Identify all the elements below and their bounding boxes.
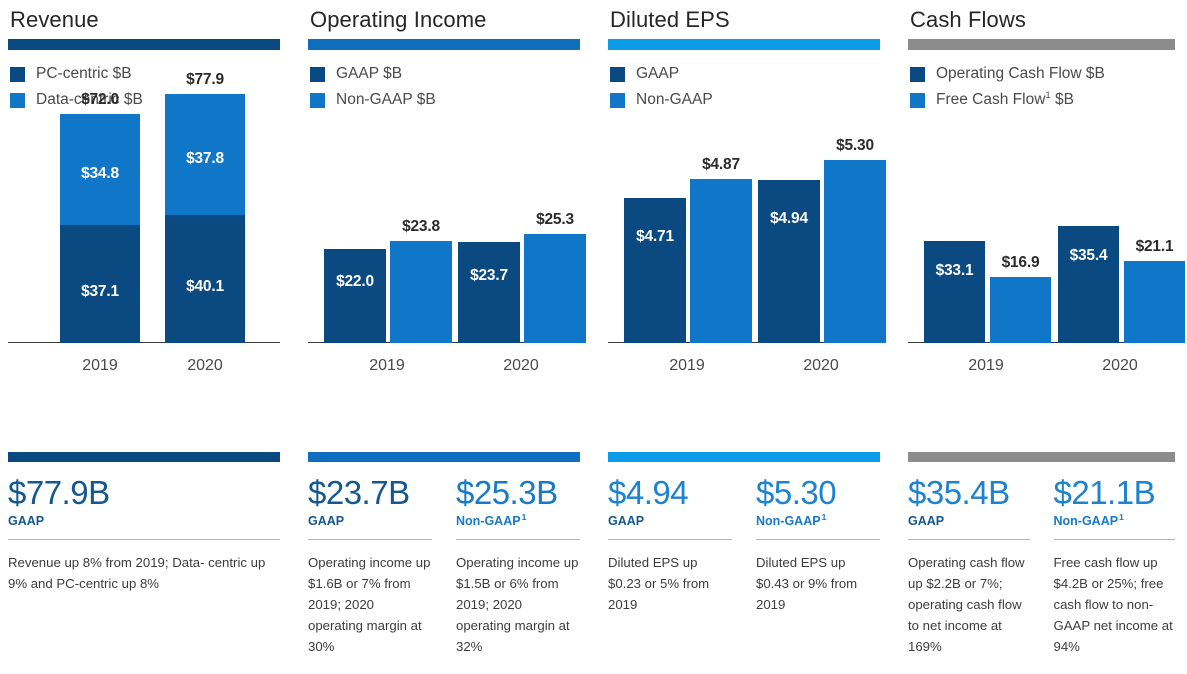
summary-description-non-gaap: Diluted EPS up $0.43 or 9% from 2019 <box>756 552 880 615</box>
bar-pc-centric-2020: $40.1 <box>165 215 245 343</box>
bar-value-non-gaap-2019: $4.87 <box>690 156 752 174</box>
summary-divider <box>756 539 880 540</box>
column-title-revenue: Revenue <box>10 5 280 35</box>
bar-operating-cash-flow-2020: $35.4 <box>1058 226 1119 343</box>
bar-total-label-2019: $72.0 <box>60 91 140 109</box>
summary-description-gaap: Operating income up $1.6B or 7% from 201… <box>308 552 432 657</box>
legend-label-gaap: GAAP <box>636 65 679 83</box>
legend-swatch-icon-gaap <box>310 67 325 82</box>
x-tick-2020: 2020 <box>758 357 884 375</box>
bar-value-non-gaap-2020: $5.30 <box>824 137 886 155</box>
bar-non-gaap-2020: $5.30 <box>824 160 886 343</box>
legend-item-operating-cash-flow: Operating Cash Flow $B <box>908 61 1175 87</box>
bar-non-gaap-2019: $4.87 <box>690 179 752 343</box>
summary-cell-non-gaap: $5.30 Non-GAAP1 Diluted EPS up $0.43 or … <box>744 474 880 615</box>
legend-label-gaap: GAAP $B <box>336 65 402 83</box>
bar-pc-centric-2019: $37.1 <box>60 225 140 343</box>
summary-value-gaap: $23.7B <box>308 474 432 512</box>
accent-bar-cash-flows <box>908 39 1175 50</box>
legend-label-pc-centric: PC-centric $B <box>36 65 132 83</box>
metric-column-revenue: Revenue PC-centric $B Data-centric $B $3… <box>0 0 300 674</box>
legend-label-operating-cash-flow: Operating Cash Flow $B <box>936 65 1105 83</box>
bar-group-2020: $4.94 $5.30 <box>758 121 884 343</box>
legend-item-non-gaap: Non-GAAP <box>608 87 880 113</box>
bar-group-2019: $22.0 $23.8 <box>324 121 450 343</box>
bar-data-centric-2020: $37.8 <box>165 94 245 215</box>
chart-cash-flows: $33.1 $16.9 $35.4 $21.1 2019 2020 <box>908 119 1175 379</box>
metric-column-diluted-eps: Diluted EPS GAAP Non-GAAP $4.71 $4.87 <box>600 0 900 674</box>
summary-sublabel-non-gaap-text: Non-GAAP <box>756 514 821 528</box>
chart-diluted-eps: $4.71 $4.87 $4.94 $5.30 2019 2020 <box>608 119 880 379</box>
summary-divider <box>308 539 432 540</box>
bar-data-centric-2019: $34.8 <box>60 114 140 225</box>
x-tick-2020: 2020 <box>458 357 584 375</box>
summary-description-non-gaap: Free cash flow up $4.2B or 25%; free cas… <box>1054 552 1176 657</box>
summary-sublabel-gaap: GAAP <box>908 514 1030 528</box>
summary-value-gaap: $4.94 <box>608 474 732 512</box>
bar-value-gaap-2019: $4.71 <box>624 228 686 246</box>
legend-item-gaap: GAAP <box>608 61 880 87</box>
bar-value-free-cash-flow-2020: $21.1 <box>1124 238 1185 256</box>
x-tick-2020: 2020 <box>1058 357 1182 375</box>
legend-swatch-icon-gaap <box>610 67 625 82</box>
summary-divider <box>456 539 580 540</box>
bar-group-2019: $37.1 $34.8 $72.0 <box>60 121 140 343</box>
accent-bar-diluted-eps <box>608 39 880 50</box>
legend-swatch-icon-operating-cash-flow <box>910 67 925 82</box>
summary-accent-bar-operating-income <box>308 452 580 462</box>
summary-value-non-gaap: $21.1B <box>1054 474 1176 512</box>
bar-gaap-2019: $22.0 <box>324 249 386 343</box>
x-tick-2019: 2019 <box>60 357 140 375</box>
summary-divider <box>8 539 280 540</box>
legend-item-free-cash-flow: Free Cash Flow1 $B <box>908 87 1175 113</box>
x-tick-2020: 2020 <box>165 357 245 375</box>
summary-sublabel-non-gaap-text: Non-GAAP <box>456 514 521 528</box>
bar-group-2020: $23.7 $25.3 <box>458 121 584 343</box>
legend-swatch-icon-pc-centric <box>10 67 25 82</box>
summary-value-non-gaap: $5.30 <box>756 474 880 512</box>
legend-item-gaap: GAAP $B <box>308 61 580 87</box>
bar-gaap-2019: $4.71 <box>624 198 686 343</box>
legend-swatch-icon-non-gaap <box>310 93 325 108</box>
bar-value-pc-centric-2019: $37.1 <box>60 283 140 301</box>
bar-free-cash-flow-2020: $21.1 <box>1124 261 1185 343</box>
bar-group-2020: $40.1 $37.8 $77.9 <box>165 121 245 343</box>
summary-value-non-gaap: $25.3B <box>456 474 580 512</box>
bar-gaap-2020: $4.94 <box>758 180 820 343</box>
footnote-marker: 1 <box>822 512 827 522</box>
summary-divider <box>608 539 732 540</box>
x-tick-2019: 2019 <box>324 357 450 375</box>
metric-column-cash-flows: Cash Flows Operating Cash Flow $B Free C… <box>900 0 1187 674</box>
chart-operating-income: $22.0 $23.8 $23.7 $25.3 2019 2020 <box>308 119 580 379</box>
bar-value-data-centric-2019: $34.8 <box>60 165 140 183</box>
bar-gaap-2020: $23.7 <box>458 242 520 343</box>
bar-value-gaap-2019: $22.0 <box>324 273 386 291</box>
summary-sublabel-non-gaap: Non-GAAP1 <box>1054 514 1176 528</box>
legend-label-free-cash-flow-suffix: $B <box>1051 91 1074 108</box>
summary-cell-gaap: $23.7B GAAP Operating income up $1.6B or… <box>308 474 444 657</box>
legend-swatch-icon-free-cash-flow <box>910 93 925 108</box>
bar-value-gaap-2020: $23.7 <box>458 267 520 285</box>
bar-value-operating-cash-flow-2020: $35.4 <box>1058 247 1119 265</box>
metric-column-operating-income: Operating Income GAAP $B Non-GAAP $B $22… <box>300 0 600 674</box>
legend-cash-flows: Operating Cash Flow $B Free Cash Flow1 $… <box>908 61 1175 113</box>
legend-swatch-icon-non-gaap <box>610 93 625 108</box>
bar-value-gaap-2020: $4.94 <box>758 210 820 228</box>
summary-sublabel-non-gaap-text: Non-GAAP <box>1054 514 1119 528</box>
summary-sublabel-non-gaap: Non-GAAP1 <box>756 514 880 528</box>
summary-value-gaap: $77.9B <box>8 474 280 512</box>
legend-label-free-cash-flow-text: Free Cash Flow <box>936 91 1045 108</box>
summary-description-non-gaap: Operating income up $1.5B or 6% from 201… <box>456 552 580 657</box>
bar-non-gaap-2019: $23.8 <box>390 241 452 343</box>
bar-group-2019: $4.71 $4.87 <box>624 121 750 343</box>
summary-accent-bar-cash-flows <box>908 452 1175 462</box>
column-title-cash-flows: Cash Flows <box>910 5 1175 35</box>
column-title-operating-income: Operating Income <box>310 5 580 35</box>
bar-non-gaap-2020: $25.3 <box>524 234 586 343</box>
summary-cell-gaap: $35.4B GAAP Operating cash flow up $2.2B… <box>908 474 1042 657</box>
summary-cell-non-gaap: $25.3B Non-GAAP1 Operating income up $1.… <box>444 474 580 657</box>
bar-value-non-gaap-2020: $25.3 <box>524 211 586 229</box>
legend-operating-income: GAAP $B Non-GAAP $B <box>308 61 580 113</box>
summary-description-gaap: Diluted EPS up $0.23 or 5% from 2019 <box>608 552 732 615</box>
summary-cash-flows: $35.4B GAAP Operating cash flow up $2.2B… <box>908 452 1175 657</box>
x-tick-2019: 2019 <box>924 357 1048 375</box>
bar-value-non-gaap-2019: $23.8 <box>390 218 452 236</box>
summary-revenue: $77.9B GAAP Revenue up 8% from 2019; Dat… <box>8 452 280 594</box>
accent-bar-operating-income <box>308 39 580 50</box>
financial-highlights-dashboard: Revenue PC-centric $B Data-centric $B $3… <box>0 0 1187 674</box>
summary-cell-non-gaap: $21.1B Non-GAAP1 Free cash flow up $4.2B… <box>1042 474 1176 657</box>
accent-bar-revenue <box>8 39 280 50</box>
legend-label-free-cash-flow: Free Cash Flow1 $B <box>936 91 1074 109</box>
bar-value-pc-centric-2020: $40.1 <box>165 278 245 296</box>
bar-value-operating-cash-flow-2019: $33.1 <box>924 262 985 280</box>
bar-group-2019: $33.1 $16.9 <box>924 121 1048 343</box>
summary-sublabel-gaap: GAAP <box>308 514 432 528</box>
bar-group-2020: $35.4 $21.1 <box>1058 121 1182 343</box>
summary-cell-gaap: $77.9B GAAP Revenue up 8% from 2019; Dat… <box>8 474 280 594</box>
legend-label-non-gaap: Non-GAAP <box>636 91 713 109</box>
summary-divider <box>908 539 1030 540</box>
summary-description-gaap: Revenue up 8% from 2019; Data- centric u… <box>8 552 280 594</box>
summary-operating-income: $23.7B GAAP Operating income up $1.6B or… <box>308 452 580 657</box>
footnote-marker: 1 <box>1119 512 1124 522</box>
bar-operating-cash-flow-2019: $33.1 <box>924 241 985 343</box>
legend-diluted-eps: GAAP Non-GAAP <box>608 61 880 113</box>
legend-swatch-icon-data-centric <box>10 93 25 108</box>
bar-value-free-cash-flow-2019: $16.9 <box>990 254 1051 272</box>
bar-value-data-centric-2020: $37.8 <box>165 150 245 168</box>
summary-diluted-eps: $4.94 GAAP Diluted EPS up $0.23 or 5% fr… <box>608 452 880 615</box>
summary-sublabel-non-gaap: Non-GAAP1 <box>456 514 580 528</box>
footnote-marker: 1 <box>522 512 527 522</box>
summary-accent-bar-revenue <box>8 452 280 462</box>
summary-accent-bar-diluted-eps <box>608 452 880 462</box>
column-title-diluted-eps: Diluted EPS <box>610 5 880 35</box>
summary-sublabel-gaap: GAAP <box>8 514 280 528</box>
summary-cell-gaap: $4.94 GAAP Diluted EPS up $0.23 or 5% fr… <box>608 474 744 615</box>
legend-label-non-gaap: Non-GAAP $B <box>336 91 436 109</box>
summary-divider <box>1054 539 1176 540</box>
chart-revenue: $37.1 $34.8 $72.0 $40.1 $37.8 $77.9 2019… <box>8 119 280 379</box>
summary-sublabel-gaap: GAAP <box>608 514 732 528</box>
summary-value-gaap: $35.4B <box>908 474 1030 512</box>
bar-total-label-2020: $77.9 <box>165 71 245 89</box>
x-tick-2019: 2019 <box>624 357 750 375</box>
bar-free-cash-flow-2019: $16.9 <box>990 277 1051 343</box>
legend-item-non-gaap: Non-GAAP $B <box>308 87 580 113</box>
summary-description-gaap: Operating cash flow up $2.2B or 7%; oper… <box>908 552 1030 657</box>
